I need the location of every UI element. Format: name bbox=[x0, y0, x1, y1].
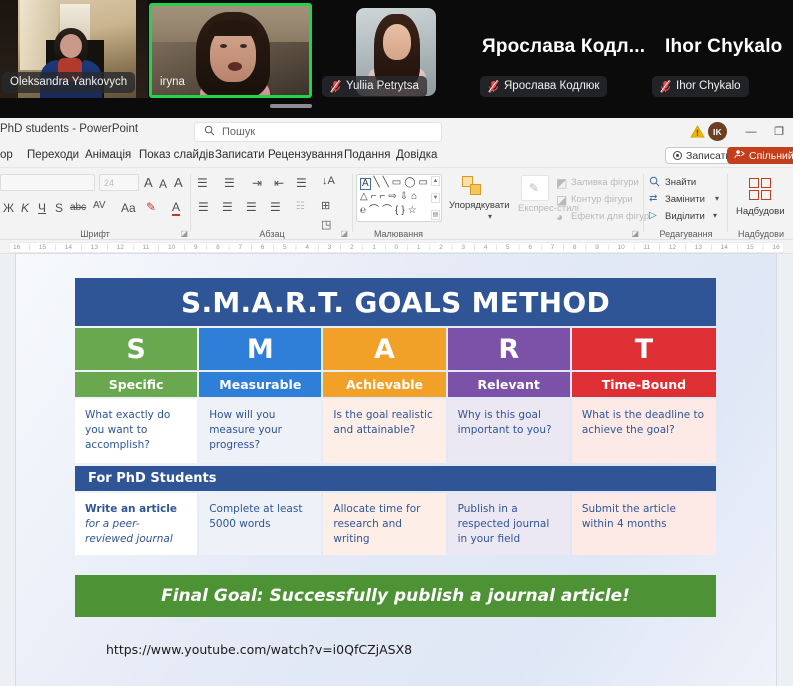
letter-cell-a: A bbox=[323, 328, 445, 370]
scroll-up-icon[interactable]: ▲ bbox=[431, 176, 440, 186]
tab-design[interactable]: ор bbox=[0, 147, 17, 163]
share-button[interactable]: Спільний до bbox=[727, 147, 793, 164]
quick-styles-glyph: ✎ bbox=[529, 181, 539, 195]
addins-icon[interactable] bbox=[749, 178, 771, 200]
participant-label-yuliia: Yuliia Petrytsa bbox=[322, 76, 427, 97]
text-direction-icon[interactable]: ↓A bbox=[322, 175, 335, 187]
font-dialog-launcher[interactable]: ◪ bbox=[180, 229, 188, 238]
ruler-tick-10: 6 bbox=[261, 244, 265, 251]
ruler-tick-mark: | bbox=[736, 244, 738, 251]
curve-shape-icon[interactable]: ⌒ bbox=[369, 206, 379, 216]
tab-transitions[interactable]: Переходи bbox=[23, 147, 83, 163]
ruler-tick-0: 16 bbox=[13, 244, 20, 251]
arrange-chevron-down-icon[interactable]: ▾ bbox=[488, 212, 492, 221]
shape-outline-icon: ◪ bbox=[556, 193, 567, 207]
ruler-tick-mark: | bbox=[762, 244, 764, 251]
ruler-tick-mark: | bbox=[251, 244, 253, 251]
strip-resize-handle[interactable] bbox=[270, 104, 312, 108]
justify-icon[interactable]: ☰ bbox=[270, 200, 281, 214]
align-text-icon[interactable]: ⊞ bbox=[321, 199, 330, 212]
question-cell-s: What exactly do you want to accomplish? bbox=[75, 399, 197, 463]
answer-cell-t: Submit the article within 4 months bbox=[572, 493, 716, 555]
ruler-tick-32: 16 bbox=[772, 244, 779, 251]
select-label[interactable]: Виділити bbox=[665, 211, 705, 222]
ruler-tick-mark: | bbox=[184, 244, 186, 251]
ribbon-group-font: 24 A A A Ж K Ч S abc AV Aa ✎ A Шрифт ◪ bbox=[0, 168, 190, 240]
word-cell-achievable: Achievable bbox=[323, 372, 445, 397]
bullets-icon[interactable]: ☰ bbox=[197, 176, 208, 190]
restore-button[interactable]: ❐ bbox=[768, 122, 790, 141]
left-brace-icon[interactable]: { bbox=[395, 206, 398, 216]
ruler-tick-13: 3 bbox=[328, 244, 332, 251]
answer-m: Complete at least 5000 words bbox=[199, 493, 321, 555]
ruler-tick-mark: | bbox=[340, 244, 342, 251]
tab-view[interactable]: Подання bbox=[340, 147, 394, 163]
horizontal-ruler[interactable]: 16|15|14|13|12|11|10|9|8|7|6|5|4|3|2|1|0… bbox=[0, 240, 793, 254]
roundrect-shape-icon[interactable]: ▭ bbox=[418, 178, 427, 190]
answers-row: Write an article for a peer-reviewed jou… bbox=[75, 493, 716, 555]
ruler-tick-11: 5 bbox=[283, 244, 287, 251]
ruler-tick-28: 12 bbox=[669, 244, 676, 251]
group-divider bbox=[352, 174, 353, 232]
ribbon-group-editing: Знайти ⇄ Замінити ▾ ▷ Виділити ▾ Редагув… bbox=[647, 168, 725, 240]
answer-s: Write an article for a peer-reviewed jou… bbox=[75, 493, 197, 555]
ruler-tick-mark: | bbox=[158, 244, 160, 251]
addins-cell bbox=[761, 190, 771, 200]
group-divider bbox=[190, 174, 191, 232]
ruler-tick-mark: | bbox=[384, 244, 386, 251]
ruler-tick-mark: | bbox=[540, 244, 542, 251]
letter-cell-m: M bbox=[199, 328, 321, 370]
ruler-tick-mark: | bbox=[228, 244, 230, 251]
word-cell-specific: Specific bbox=[75, 372, 197, 397]
bigname-text: Ihor Chykalo bbox=[665, 36, 782, 57]
question-t: What is the deadline to achieve the goal… bbox=[572, 399, 716, 463]
ruler-tick-12: 4 bbox=[305, 244, 309, 251]
ruler-tick-17: 1 bbox=[417, 244, 421, 251]
slide[interactable]: S.M.A.R.T. GOALS METHOD S M A R T Specif… bbox=[16, 254, 776, 686]
question-cell-m: How will you measure your progress? bbox=[199, 399, 321, 463]
ruler-tick-16: 0 bbox=[395, 244, 399, 251]
ruler-tick-mark: | bbox=[585, 244, 587, 251]
shapes-gallery[interactable]: A ╲ ╲ ▭ ◯ ▭ △ ⌐ ⌐ ⇨ ⇩ ⌂ bbox=[356, 174, 442, 222]
right-arrow-shape-icon[interactable]: ⇨ bbox=[388, 192, 396, 202]
letter-s: S bbox=[75, 328, 197, 370]
ruler-tick-29: 13 bbox=[695, 244, 702, 251]
bold-icon[interactable]: Ж bbox=[3, 201, 14, 215]
font-name-input[interactable] bbox=[0, 174, 95, 191]
line-shape-icon[interactable]: ╲ bbox=[374, 178, 380, 190]
align-center-icon[interactable]: ☰ bbox=[222, 200, 233, 214]
answer-s-bold: Write an article bbox=[85, 503, 177, 515]
ruler-tick-mark: | bbox=[132, 244, 134, 251]
ruler-tick-31: 15 bbox=[747, 244, 754, 251]
select-chevron-down-icon[interactable]: ▾ bbox=[713, 211, 717, 220]
participant-label-ihor: Ihor Chykalo bbox=[652, 76, 749, 97]
arrow-shape-icon[interactable]: ╲ bbox=[383, 178, 389, 190]
find-label[interactable]: Знайти bbox=[665, 177, 696, 188]
tile-person-face bbox=[383, 24, 411, 60]
answer-cell-a: Allocate time for research and writing bbox=[323, 493, 445, 555]
answer-cell-s: Write an article for a peer-reviewed jou… bbox=[75, 493, 197, 555]
answer-a: Allocate time for research and writing bbox=[323, 493, 445, 555]
ruler-tick-15: 1 bbox=[372, 244, 376, 251]
question-cell-t: What is the deadline to achieve the goal… bbox=[572, 399, 716, 463]
ruler-tick-8: 8 bbox=[216, 244, 220, 251]
font-color-icon[interactable]: A bbox=[172, 200, 180, 216]
participant-name: Oleksandra Yankovych bbox=[10, 73, 127, 91]
participant-name: Ihor Chykalo bbox=[676, 77, 741, 95]
ruler-tick-7: 9 bbox=[194, 244, 198, 251]
word-timebound: Time-Bound bbox=[572, 372, 716, 397]
underline-icon[interactable]: Ч bbox=[38, 201, 46, 215]
ruler-tick-mark: | bbox=[273, 244, 275, 251]
rect-shape-icon[interactable]: ▭ bbox=[392, 178, 401, 190]
change-case-icon[interactable]: Aa bbox=[121, 201, 136, 215]
freeform-shape-icon[interactable]: ℮ bbox=[360, 206, 366, 216]
ruler-tick-2: 14 bbox=[65, 244, 72, 251]
ruler-tick-18: 2 bbox=[439, 244, 443, 251]
group-divider bbox=[643, 174, 644, 232]
ruler-tick-mark: | bbox=[607, 244, 609, 251]
ribbon-group-drawing: A ╲ ╲ ▭ ◯ ▭ △ ⌐ ⌐ ⇨ ⇩ ⌂ bbox=[356, 168, 641, 240]
group-label-editing: Редагування bbox=[647, 229, 725, 239]
triangle-shape-icon[interactable]: △ bbox=[360, 192, 368, 202]
ruler-tick-5: 11 bbox=[143, 244, 150, 251]
question-cell-a: Is the goal realistic and attainable? bbox=[323, 399, 445, 463]
ruler-tick-mark: | bbox=[295, 244, 297, 251]
arrange-label[interactable]: Упорядкувати bbox=[449, 200, 510, 211]
participant-label-yaroslava: Ярослава Кодлюк bbox=[480, 76, 607, 97]
letter-cell-t: T bbox=[572, 328, 716, 370]
ruler-tick-mark: | bbox=[685, 244, 687, 251]
ruler-tick-30: 14 bbox=[721, 244, 728, 251]
shape-fill-icon: ◩ bbox=[556, 176, 567, 190]
letter-cell-r: R bbox=[448, 328, 570, 370]
right-brace-icon[interactable]: } bbox=[401, 206, 404, 216]
participant-label-oleksandra: Oleksandra Yankovych bbox=[2, 72, 135, 93]
replace-chevron-down-icon[interactable]: ▾ bbox=[715, 194, 719, 203]
find-icon[interactable] bbox=[649, 176, 660, 190]
strikethrough-icon[interactable]: abc bbox=[70, 202, 86, 213]
tab-animations[interactable]: Анімація bbox=[81, 147, 135, 163]
ruler-tick-mark: | bbox=[29, 244, 31, 251]
select-icon[interactable]: ▷ bbox=[649, 210, 657, 221]
word-cell-relevant: Relevant bbox=[448, 372, 570, 397]
star-shape-icon[interactable]: ☆ bbox=[408, 206, 417, 216]
italic-icon[interactable]: K bbox=[21, 201, 29, 215]
shapes-gallery-scroll[interactable]: ▲ ▼ ▤ bbox=[431, 176, 440, 220]
record-button-label: Записати bbox=[686, 150, 731, 162]
ruler-tick-mark: | bbox=[633, 244, 635, 251]
ruler-tick-mark: | bbox=[518, 244, 520, 251]
align-left-icon[interactable]: ☰ bbox=[198, 200, 209, 214]
scroll-down-icon[interactable]: ▼ bbox=[431, 193, 440, 203]
word-specific: Specific bbox=[75, 372, 197, 397]
ruler-tick-mark: | bbox=[407, 244, 409, 251]
powerpoint-window: PhD students - PowerPoint Пошук IK — ❐ о… bbox=[0, 118, 793, 686]
word-cell-measurable: Measurable bbox=[199, 372, 321, 397]
participant-name: Ярослава Кодлюк bbox=[504, 77, 599, 95]
participant-bigname-yaroslava: Ярослава Кодл... bbox=[482, 36, 645, 58]
participant-name: iryna bbox=[160, 73, 185, 91]
align-right-icon[interactable]: ☰ bbox=[246, 200, 257, 214]
document-title: PhD students - PowerPoint bbox=[0, 123, 138, 135]
search-icon bbox=[204, 123, 215, 141]
ruler-tick-mark: | bbox=[106, 244, 108, 251]
oval-shape-icon[interactable]: ◯ bbox=[404, 178, 415, 190]
participant-bigname-ihor: Ihor Chykalo bbox=[665, 36, 782, 58]
final-goal-bar: Final Goal: Successfully publish a journ… bbox=[75, 575, 716, 617]
ruler-tick-22: 6 bbox=[528, 244, 532, 251]
tab-help[interactable]: Довідка bbox=[392, 147, 441, 163]
mic-muted-icon bbox=[330, 80, 341, 93]
addins-label[interactable]: Надбудови bbox=[736, 206, 785, 217]
arrange-icon[interactable] bbox=[462, 176, 484, 196]
question-cell-r: Why is this goal important to you? bbox=[448, 399, 570, 463]
textbox-shape-icon[interactable]: A bbox=[360, 178, 371, 190]
avatar[interactable]: IK bbox=[708, 122, 727, 141]
down-arrow-shape-icon[interactable]: ⇩ bbox=[400, 192, 408, 202]
addins-cell bbox=[749, 190, 759, 200]
search-placeholder: Пошук bbox=[222, 126, 255, 138]
question-a: Is the goal realistic and attainable? bbox=[323, 399, 445, 463]
scroll-more-icon[interactable]: ▤ bbox=[431, 210, 440, 220]
addins-cell bbox=[749, 178, 759, 188]
ruler-tick-27: 11 bbox=[643, 244, 650, 251]
ruler-tick-23: 7 bbox=[551, 244, 555, 251]
ruler-tick-14: 2 bbox=[350, 244, 354, 251]
section-bar: For PhD Students bbox=[75, 466, 716, 491]
text-highlight-icon[interactable]: ✎ bbox=[146, 200, 156, 214]
tile-person-mouth bbox=[228, 62, 242, 71]
ruler-tick-mark: | bbox=[362, 244, 364, 251]
question-r: Why is this goal important to you? bbox=[448, 399, 570, 463]
participant-name: Yuliia Petrytsa bbox=[346, 77, 419, 95]
group-divider bbox=[727, 174, 728, 232]
ruler-tick-9: 7 bbox=[238, 244, 242, 251]
addins-cell bbox=[761, 178, 771, 188]
ruler-tick-mark: | bbox=[429, 244, 431, 251]
ruler-tick-mark: | bbox=[474, 244, 476, 251]
letter-t: T bbox=[572, 328, 716, 370]
drawing-dialog-launcher[interactable]: ◪ bbox=[631, 229, 639, 238]
text-shadow-icon[interactable]: S bbox=[55, 201, 63, 215]
word-measurable: Measurable bbox=[199, 372, 321, 397]
title-bar: PhD students - PowerPoint Пошук IK — ❐ bbox=[0, 118, 793, 145]
letters-row: S M A R T bbox=[75, 328, 716, 370]
ruler-tick-26: 10 bbox=[618, 244, 625, 251]
font-size-input[interactable]: 24 bbox=[99, 174, 139, 191]
arc-shape-icon[interactable]: ⌒ bbox=[382, 206, 392, 216]
tab-record[interactable]: Записати bbox=[211, 147, 269, 163]
ruler-tick-mark: | bbox=[496, 244, 498, 251]
ruler-tick-3: 13 bbox=[91, 244, 98, 251]
ruler-tick-25: 9 bbox=[595, 244, 599, 251]
letter-r: R bbox=[448, 328, 570, 370]
minimize-button[interactable]: — bbox=[740, 122, 762, 141]
word-relevant: Relevant bbox=[448, 372, 570, 397]
ruler-tick-19: 3 bbox=[461, 244, 465, 251]
ribbon-group-addins: Надбудови Надбудови bbox=[731, 168, 791, 240]
columns-icon[interactable]: ☷ bbox=[296, 201, 305, 212]
quick-styles-label: Експрес-стилі bbox=[518, 203, 579, 214]
shape-effects-label: Ефекти для фігур bbox=[571, 211, 649, 222]
answer-cell-m: Complete at least 5000 words bbox=[199, 493, 321, 555]
ruler-tick-mark: | bbox=[659, 244, 661, 251]
share-button-label: Спільний до bbox=[749, 150, 793, 162]
group-label-font: Шрифт bbox=[0, 229, 190, 239]
tile-person-face bbox=[60, 34, 82, 58]
ruler-tick-6: 10 bbox=[168, 244, 175, 251]
mic-muted-icon bbox=[660, 80, 671, 93]
shape-outline-label: Контур фігури bbox=[571, 194, 633, 205]
decrease-indent-icon[interactable]: ⇥ bbox=[252, 176, 262, 190]
ruler-tick-mark: | bbox=[55, 244, 57, 251]
words-row: Specific Measurable Achievable Relevant … bbox=[75, 372, 716, 397]
video-conference-strip: Oleksandra Yankovych iryna Yuliia Petryt… bbox=[0, 0, 793, 118]
ruler-tick-mark: | bbox=[710, 244, 712, 251]
shrink-font-icon[interactable]: A bbox=[159, 177, 167, 191]
tab-slideshow[interactable]: Показ слайдів bbox=[135, 147, 218, 163]
letter-m: M bbox=[199, 328, 321, 370]
question-m: How will you measure your progress? bbox=[199, 399, 321, 463]
smart-goals-table: S.M.A.R.T. GOALS METHOD S M A R T Specif… bbox=[75, 278, 716, 617]
quick-styles-icon: ✎ bbox=[521, 175, 549, 201]
clear-formatting-icon[interactable]: A bbox=[174, 175, 183, 190]
search-input[interactable]: Пошук bbox=[194, 122, 442, 142]
ruler-tick-mark: | bbox=[563, 244, 565, 251]
answer-t: Submit the article within 4 months bbox=[572, 493, 716, 555]
record-dot-icon bbox=[673, 151, 682, 160]
letter-a: A bbox=[323, 328, 445, 370]
letter-cell-s: S bbox=[75, 328, 197, 370]
ribbon-tabs: ор Переходи Анімація Показ слайдів Запис… bbox=[0, 145, 793, 168]
ruler-tick-24: 8 bbox=[573, 244, 577, 251]
pentagon-shape-icon[interactable]: ⌂ bbox=[411, 192, 417, 202]
numbering-icon[interactable]: ☰ bbox=[224, 176, 235, 190]
group-label-drawing: Малювання bbox=[256, 229, 541, 239]
bigname-text: Ярослава Кодл... bbox=[482, 36, 645, 57]
ruler-tick-mark: | bbox=[81, 244, 83, 251]
tile-person-eye-left bbox=[220, 44, 227, 48]
shape-fill-label: Заливка фігури bbox=[571, 177, 639, 188]
word-achievable: Achievable bbox=[323, 372, 445, 397]
slide-title: S.M.A.R.T. GOALS METHOD bbox=[75, 278, 716, 326]
mic-muted-icon bbox=[488, 80, 499, 93]
increase-indent-icon[interactable]: ⇤ bbox=[274, 176, 284, 190]
youtube-link[interactable]: https://www.youtube.com/watch?v=i0QfCZjA… bbox=[106, 642, 412, 657]
elbow2-connector-icon[interactable]: ⌐ bbox=[380, 192, 386, 202]
replace-label[interactable]: Замінити bbox=[665, 194, 705, 205]
tile-person-eye-right bbox=[240, 44, 247, 48]
participant-label-iryna: iryna bbox=[152, 72, 193, 93]
warning-icon[interactable] bbox=[690, 124, 705, 139]
ruler-tick-mark: | bbox=[206, 244, 208, 251]
questions-row: What exactly do you want to accomplish? … bbox=[75, 399, 716, 463]
group-label-addins: Надбудови bbox=[731, 229, 791, 239]
ruler-tick-1: 15 bbox=[39, 244, 46, 251]
ruler-tick-20: 4 bbox=[484, 244, 488, 251]
elbow-connector-icon[interactable]: ⌐ bbox=[371, 192, 377, 202]
ruler-tick-mark: | bbox=[451, 244, 453, 251]
answer-r: Publish in a respected journal in your f… bbox=[448, 493, 570, 555]
ruler-tick-21: 5 bbox=[506, 244, 510, 251]
slide-canvas: S.M.A.R.T. GOALS METHOD S M A R T Specif… bbox=[0, 254, 793, 686]
ruler-tick-mark: | bbox=[317, 244, 319, 251]
character-spacing-icon[interactable]: AV bbox=[93, 200, 106, 211]
question-s: What exactly do you want to accomplish? bbox=[75, 399, 197, 463]
replace-icon[interactable]: ⇄ bbox=[649, 193, 657, 204]
shape-effects-icon: ◕ bbox=[556, 210, 563, 224]
answer-cell-r: Publish in a respected journal in your f… bbox=[448, 493, 570, 555]
tile-person-fringe bbox=[208, 20, 258, 36]
line-spacing-icon[interactable]: ☰ bbox=[296, 176, 307, 190]
share-person-icon bbox=[734, 149, 745, 163]
ruler-ticks: 16|15|14|13|12|11|10|9|8|7|6|5|4|3|2|1|0… bbox=[9, 242, 784, 253]
grow-font-icon[interactable]: A bbox=[144, 175, 153, 190]
word-cell-timebound: Time-Bound bbox=[572, 372, 716, 397]
tab-review[interactable]: Рецензування bbox=[264, 147, 347, 163]
answer-s-rest: for a peer-reviewed journal bbox=[85, 518, 173, 545]
ribbon: 24 A A A Ж K Ч S abc AV Aa ✎ A Шрифт ◪ ☰ bbox=[0, 168, 793, 240]
ruler-tick-4: 12 bbox=[117, 244, 124, 251]
